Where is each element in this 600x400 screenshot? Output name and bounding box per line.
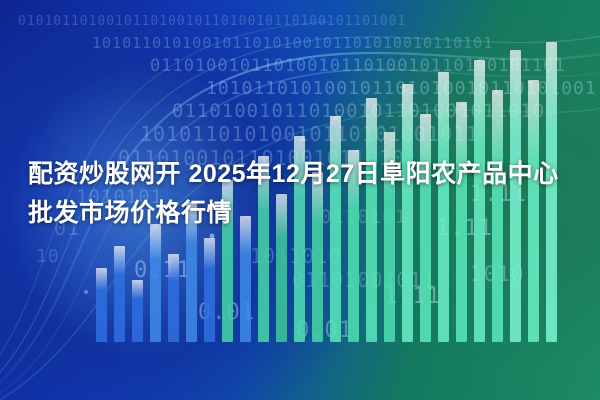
chart-bar — [240, 216, 251, 342]
page-title: 配资炒股网开 2025年12月27日阜阳农产品中心批发市场价格行情 — [28, 155, 576, 233]
chart-bar — [96, 268, 107, 342]
chart-bar — [132, 280, 143, 342]
chart-bar — [114, 246, 125, 342]
chart-bar — [204, 238, 215, 342]
chart-bar — [168, 254, 179, 342]
image-canvas: 0101011010010110100101101001011010010110… — [0, 0, 600, 400]
chart-bar — [150, 224, 161, 342]
